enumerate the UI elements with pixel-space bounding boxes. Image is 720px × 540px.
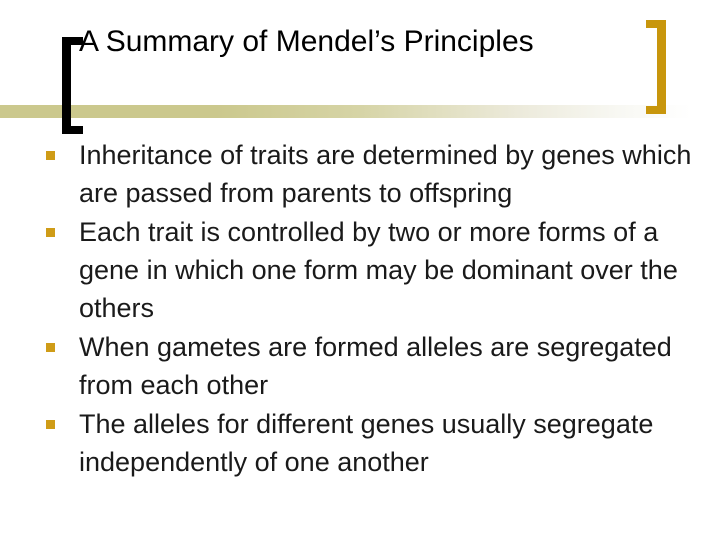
slide-canvas: A Summary of Mendel’s Principles Inherit…	[0, 0, 720, 540]
list-item-text: When gametes are formed alleles are segr…	[79, 332, 672, 400]
list-item: The alleles for different genes usually …	[40, 405, 712, 481]
bullet-list: Inheritance of traits are determined by …	[40, 136, 712, 482]
right-bracket-icon	[646, 20, 666, 114]
accent-band-decoration	[0, 105, 720, 118]
list-item-text: The alleles for different genes usually …	[79, 409, 653, 477]
square-bullet-icon	[46, 420, 55, 429]
list-item: When gametes are formed alleles are segr…	[40, 328, 712, 404]
list-item-text: Each trait is controlled by two or more …	[79, 217, 678, 323]
list-item: Inheritance of traits are determined by …	[40, 136, 712, 212]
list-item: Each trait is controlled by two or more …	[40, 213, 712, 327]
slide-title: A Summary of Mendel’s Principles	[79, 22, 639, 62]
square-bullet-icon	[46, 343, 55, 352]
square-bullet-icon	[46, 228, 55, 237]
square-bullet-icon	[46, 151, 55, 160]
list-item-text: Inheritance of traits are determined by …	[79, 140, 691, 208]
